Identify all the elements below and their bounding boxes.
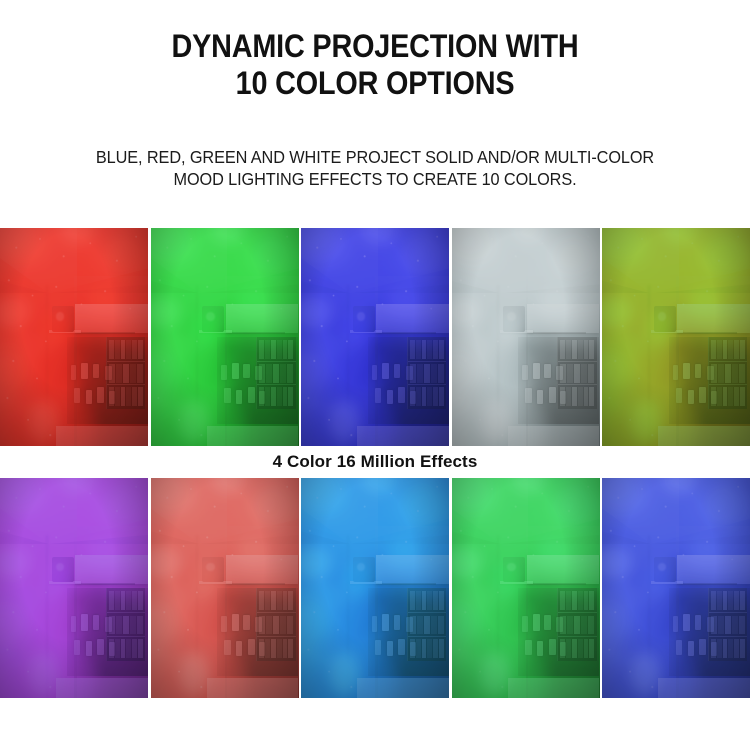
vignette-overlay [452,228,600,446]
vignette-overlay [301,228,449,446]
product-infographic: DYNAMIC PROJECTION WITH 10 COLOR OPTIONS… [0,0,750,750]
photo-grid-row-bottom [0,478,750,698]
photo-tile-bright-green[interactable] [452,478,600,698]
vignette-overlay [151,228,299,446]
subheadline-line-1: BLUE, RED, GREEN AND WHITE PROJECT SOLID… [26,146,724,168]
subheadline-line-2: MOOD LIGHTING EFFECTS TO CREATE 10 COLOR… [26,168,724,190]
vignette-overlay [0,228,148,446]
vignette-overlay [452,478,600,698]
photo-tile-green[interactable] [151,228,299,446]
vignette-overlay [151,478,299,698]
headline-line-2: 10 COLOR OPTIONS [38,68,713,99]
photo-tile-green-orange[interactable] [602,228,750,446]
photo-tile-purple[interactable] [0,478,148,698]
middle-caption: 4 Color 16 Million Effects [0,452,750,472]
photo-tile-deep-blue[interactable] [602,478,750,698]
photo-tile-red[interactable] [0,228,148,446]
vignette-overlay [301,478,449,698]
photo-tile-white[interactable] [452,228,600,446]
photo-tile-red-pink[interactable] [151,478,299,698]
headline-line-1: DYNAMIC PROJECTION WITH [38,31,713,62]
photo-grid-row-top [0,228,750,446]
vignette-overlay [0,478,148,698]
vignette-overlay [602,228,750,446]
vignette-overlay [602,478,750,698]
photo-tile-cyan-blue[interactable] [301,478,449,698]
photo-tile-blue-violet[interactable] [301,228,449,446]
